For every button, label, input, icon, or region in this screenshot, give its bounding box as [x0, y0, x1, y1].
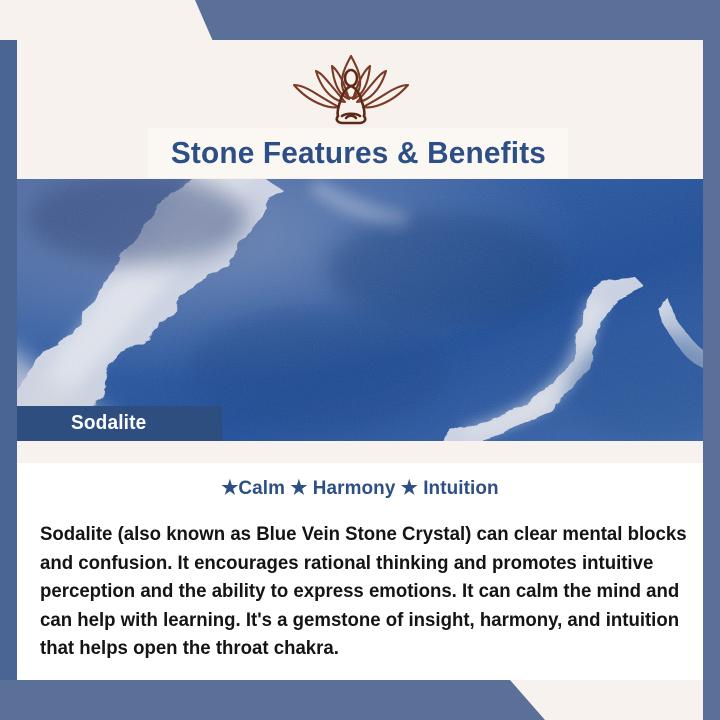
top-band-diagonal-notch [0, 0, 215, 46]
sodalite-stone-image [17, 179, 703, 441]
stone-photo [17, 179, 703, 441]
photo-bottom-gap [17, 441, 703, 463]
page-title: Stone Features & Benefits [170, 135, 545, 171]
stone-name-label: Sodalite [71, 412, 146, 435]
left-border-rail [0, 40, 17, 680]
stone-name-tag: Sodalite [17, 406, 222, 441]
stone-keywords: ★Calm ★ Harmony ★ Intuition [27, 476, 692, 500]
stone-description: Sodalite (also known as Blue Vein Stone … [40, 520, 693, 663]
page-title-banner: Stone Features & Benefits [148, 128, 568, 178]
description-card: ★Calm ★ Harmony ★ Intuition Sodalite (al… [17, 463, 703, 680]
right-border-rail [703, 0, 720, 720]
bottom-decorative-band [0, 680, 545, 720]
infographic-page: BUDDHA STONES Stone Features & Benefits [0, 0, 720, 720]
lotus-meditating-figure-icon [276, 52, 426, 126]
